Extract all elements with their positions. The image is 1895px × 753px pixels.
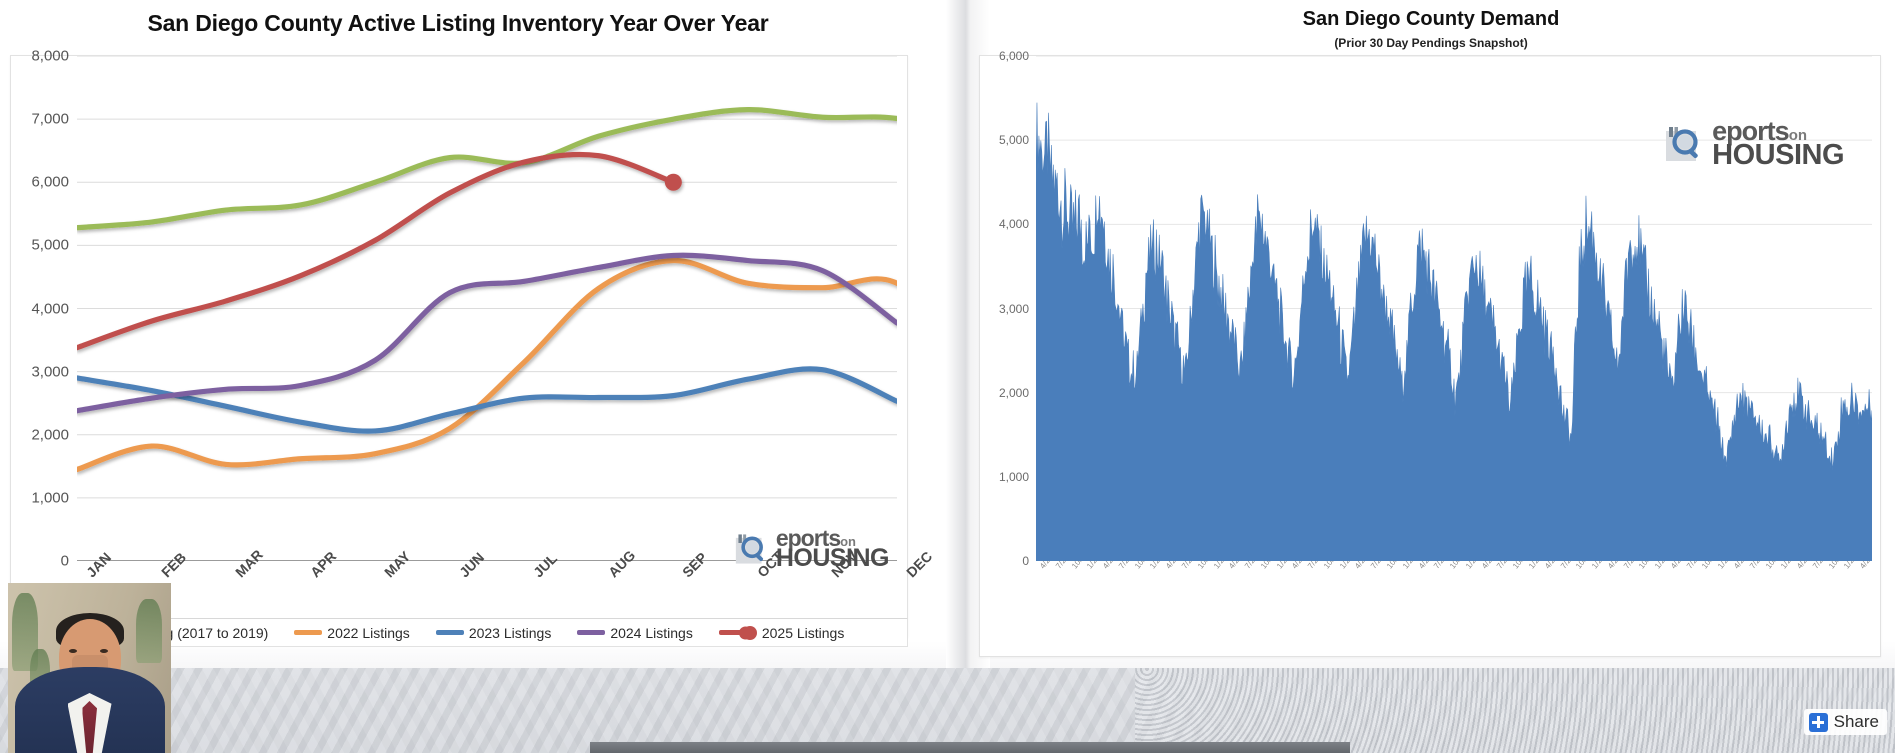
left-chart-plot-frame: 01,0002,0003,0004,0005,0006,0007,0008,00… [10,55,908,637]
share-button-label: Share [1834,712,1879,732]
legend-swatch [577,630,605,635]
logo-line2: HOUSING [776,546,889,571]
legend-label: 2025 Listings [762,625,845,641]
legend-item-1[interactable]: 2022 Listings [294,625,410,641]
demand-area-series [1036,103,1872,561]
left-y-tick-label: 7,000 [31,111,69,128]
legend-swatch [294,630,322,635]
legend-label: 2022 Listings [327,625,410,641]
left-y-tick-label: 5,000 [31,237,69,254]
legend-item-2[interactable]: 2023 Listings [436,625,552,641]
legend-label: 2023 Listings [469,625,552,641]
right-chart-x-axis: 4/26/20127/26/201210/26/20121/26/20134/2… [1036,561,1872,653]
series-line-2024-listings [77,255,897,411]
reports-on-housing-logo-left: eportson HOUSING [735,527,889,571]
left-y-tick-label: 1,000 [31,489,69,506]
series-end-marker-2025 [665,174,682,191]
right-chart-y-axis: 01,0002,0003,0004,0005,0006,000 [980,56,1036,561]
right-y-tick-label: 0 [1022,554,1029,568]
right-y-tick-label: 3,000 [999,302,1029,316]
right-chart-plot-frame: 01,0002,0003,0004,0005,0006,000 4/26/201… [979,55,1881,657]
left-y-tick-label: 3,000 [31,363,69,380]
left-y-tick-label: 0 [61,553,69,570]
right-y-tick-label: 4,000 [999,217,1029,231]
right-y-tick-label: 2,000 [999,386,1029,400]
background-photo-driveway [0,660,1895,753]
left-y-tick-label: 4,000 [31,300,69,317]
right-y-tick-label: 5,000 [999,133,1029,147]
legend-item-4[interactable]: 2025 Listings [719,625,845,641]
left-chart-title: San Diego County Active Listing Inventor… [0,10,916,37]
right-x-tick-label: 4/26/2025 [1858,561,1872,571]
magnifier-house-icon [1665,123,1707,165]
legend-label: 2024 Listings [610,625,693,641]
agent-headshot-photo [8,583,171,753]
demand-chart-panel: San Diego County Demand (Prior 30 Day Pe… [967,0,1895,668]
right-chart-subtitle: (Prior 30 Day Pendings Snapshot) [967,36,1895,50]
legend-swatch [436,630,464,635]
right-y-tick-label: 1,000 [999,470,1029,484]
reports-on-housing-logo-right: eportson HOUSING [1665,118,1844,170]
active-listing-inventory-chart-panel: San Diego County Active Listing Inventor… [0,0,916,645]
legend-item-3[interactable]: 2024 Listings [577,625,693,641]
legend-swatch [719,630,747,635]
share-plus-icon [1809,713,1828,732]
left-y-tick-label: 2,000 [31,426,69,443]
background-curb-strip [590,742,1350,753]
magnifier-house-icon [735,531,771,567]
left-y-tick-label: 8,000 [31,48,69,65]
series-line-2022-listings [77,261,897,470]
left-chart-plot-area [77,56,897,561]
right-y-tick-label: 6,000 [999,49,1029,63]
logo-line2: HOUSING [1712,141,1844,170]
right-chart-title: San Diego County Demand [967,8,1895,31]
series-line-3-year-avg-2017-to-2019- [77,110,897,228]
left-chart-y-axis: 01,0002,0003,0004,0005,0006,0007,0008,00… [11,56,77,561]
left-y-tick-label: 6,000 [31,174,69,191]
share-button[interactable]: Share [1804,709,1887,735]
